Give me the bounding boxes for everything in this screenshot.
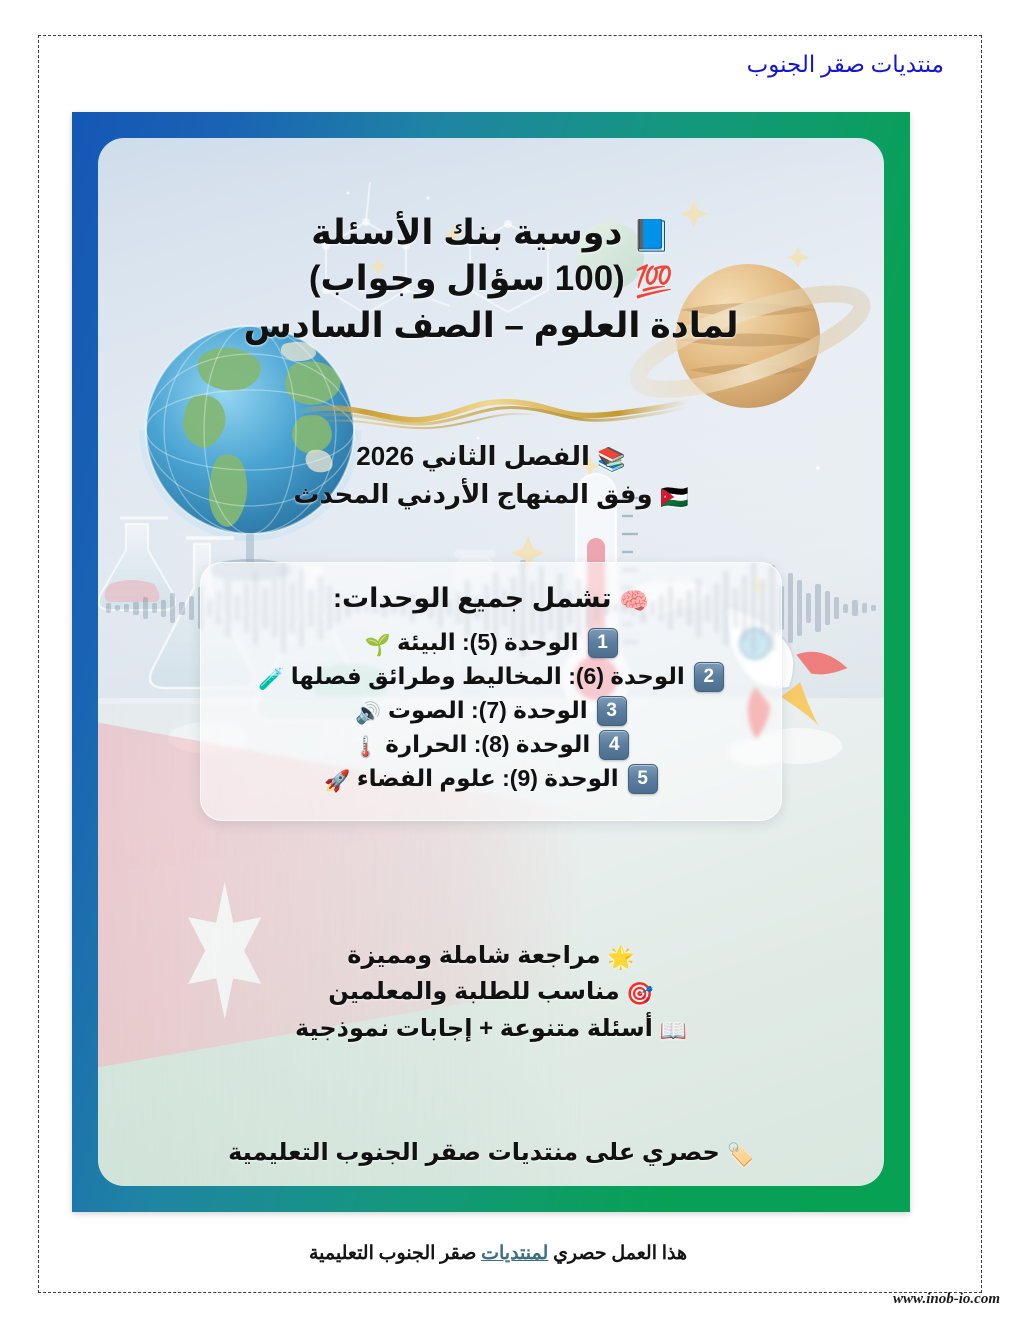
unit-label: الوحدة (7): الصوت 🔊 (355, 697, 587, 726)
bullseye-emoji: 🎯 (626, 981, 653, 1006)
unit-number-badge: 1 (588, 628, 618, 658)
unit-row: 1الوحدة (5): البيئة 🌱 (219, 628, 763, 658)
seedling-emoji: 🌱 (364, 634, 390, 657)
unit-row: 3الوحدة (7): الصوت 🔊 (219, 696, 763, 726)
title-line-1: 📘 دوسية بنك الأسئلة (98, 210, 884, 256)
subtitle-line-1-text: الفصل الثاني 2026 (356, 441, 590, 471)
title-line-3-text: لمادة العلوم – الصف السادس (244, 306, 739, 345)
unit-row: 4الوحدة (8): الحرارة 🌡️ (219, 730, 763, 760)
caption-after: صقر الجنوب التعليمية (309, 1243, 481, 1264)
caption-before: هذا العمل حصري (548, 1243, 687, 1264)
title-line-3: لمادة العلوم – الصف السادس (98, 303, 884, 349)
unit-label-text: الوحدة (5): البيئة (391, 629, 579, 655)
unit-label: الوحدة (6): المخاليط وطرائق فصلها 🧪 (258, 663, 685, 692)
units-list: 1الوحدة (5): البيئة 🌱2الوحدة (6): المخال… (219, 628, 763, 794)
forum-link[interactable]: لمنتديات (481, 1243, 548, 1264)
subtitle-line-1: 📚 الفصل الثاني 2026 (98, 438, 884, 476)
site-watermark-text: www.inob-io.com (893, 1291, 1000, 1307)
forum-header: منتديات صقر الجنوب (48, 45, 948, 85)
brain-emoji: 🧠 (619, 588, 649, 615)
unit-label: الوحدة (5): البيئة 🌱 (364, 629, 578, 658)
exclusive-note-line: 🏷️ حصري على منتديات صقر الجنوب التعليمية (98, 1138, 884, 1168)
poster-inner-panel: 📘 دوسية بنك الأسئلة 💯 (100 سؤال وجواب) ل… (98, 138, 884, 1186)
units-card-heading-text: تشمل جميع الوحدات: (333, 583, 612, 613)
poster-subtitle-block: 📚 الفصل الثاني 2026 🇯🇴 وفق المنهاج الأرد… (98, 438, 884, 513)
forum-header-text: منتديات صقر الجنوب (747, 45, 948, 85)
unit-label-text: الوحدة (7): الصوت (382, 697, 588, 723)
exclusive-note-text: حصري على منتديات صقر الجنوب التعليمية (228, 1139, 720, 1166)
units-card-heading: 🧠 تشمل جميع الوحدات: (219, 583, 763, 616)
label-tag-emoji: 🏷️ (726, 1142, 753, 1167)
poster-content: 📘 دوسية بنك الأسئلة 💯 (100 سؤال وجواب) ل… (98, 138, 884, 1186)
blue-book-emoji: 📘 (632, 218, 671, 253)
unit-row: 5الوحدة (9): علوم الفضاء 🚀 (219, 764, 763, 794)
subtitle-line-2-text: وفق المنهاج الأردني المحدث (293, 479, 652, 509)
title-line-2-text: (100 سؤال وجواب) (309, 259, 625, 298)
thermometer-emoji: 🌡️ (353, 736, 379, 759)
title-line-1-text: دوسية بنك الأسئلة (311, 213, 622, 252)
unit-number-badge: 4 (599, 730, 629, 760)
unit-row: 2الوحدة (6): المخاليط وطرائق فصلها 🧪 (219, 662, 763, 692)
feature-line-text: مناسب للطلبة والمعلمين (328, 978, 619, 1005)
feature-line: 📖 أسئلة متنوعة + إجابات نموذجية (98, 1011, 884, 1047)
speaker-emoji: 🔊 (355, 702, 381, 725)
units-card: 🧠 تشمل جميع الوحدات: 1الوحدة (5): البيئة… (200, 562, 782, 821)
footer-caption: هذا العمل حصري لمنتديات صقر الجنوب التعل… (48, 1242, 948, 1265)
feature-line-text: أسئلة متنوعة + إجابات نموذجية (295, 1015, 653, 1042)
poster-image: 📘 دوسية بنك الأسئلة 💯 (100 سؤال وجواب) ل… (72, 112, 910, 1212)
site-watermark: www.inob-io.com (893, 1291, 1000, 1308)
glowing-star-emoji: 🌟 (607, 945, 634, 970)
gold-ribbon-divider (291, 391, 691, 431)
open-book-emoji: 📖 (660, 1018, 687, 1043)
unit-label-text: الوحدة (8): الحرارة (379, 731, 590, 757)
subtitle-line-2: 🇯🇴 وفق المنهاج الأردني المحدث (98, 476, 884, 514)
unit-number-badge: 2 (694, 662, 724, 692)
exclusive-note: 🏷️ حصري على منتديات صقر الجنوب التعليمية (98, 1138, 884, 1168)
poster-title-block: 📘 دوسية بنك الأسئلة 💯 (100 سؤال وجواب) ل… (98, 210, 884, 348)
test-tube-emoji: 🧪 (258, 668, 284, 691)
feature-line-text: مراجعة شاملة ومميزة (347, 942, 600, 969)
unit-label: الوحدة (8): الحرارة 🌡️ (353, 731, 591, 760)
hundred-points-emoji: 💯 (635, 264, 674, 299)
feature-line: 🎯 مناسب للطلبة والمعلمين (98, 974, 884, 1010)
feature-line: 🌟 مراجعة شاملة ومميزة (98, 938, 884, 974)
books-emoji: 📚 (597, 446, 626, 472)
rocket-emoji: 🚀 (324, 770, 350, 793)
unit-label-text: الوحدة (9): علوم الفضاء (350, 765, 618, 791)
features-list: 🌟 مراجعة شاملة ومميزة🎯 مناسب للطلبة والم… (98, 938, 884, 1047)
unit-label-text: الوحدة (6): المخاليط وطرائق فصلها (284, 663, 684, 689)
unit-label: الوحدة (9): علوم الفضاء 🚀 (324, 765, 618, 794)
title-line-2: 💯 (100 سؤال وجواب) (98, 256, 884, 302)
unit-number-badge: 3 (597, 696, 627, 726)
jordan-flag-emoji: 🇯🇴 (660, 484, 689, 510)
unit-number-badge: 5 (628, 764, 658, 794)
